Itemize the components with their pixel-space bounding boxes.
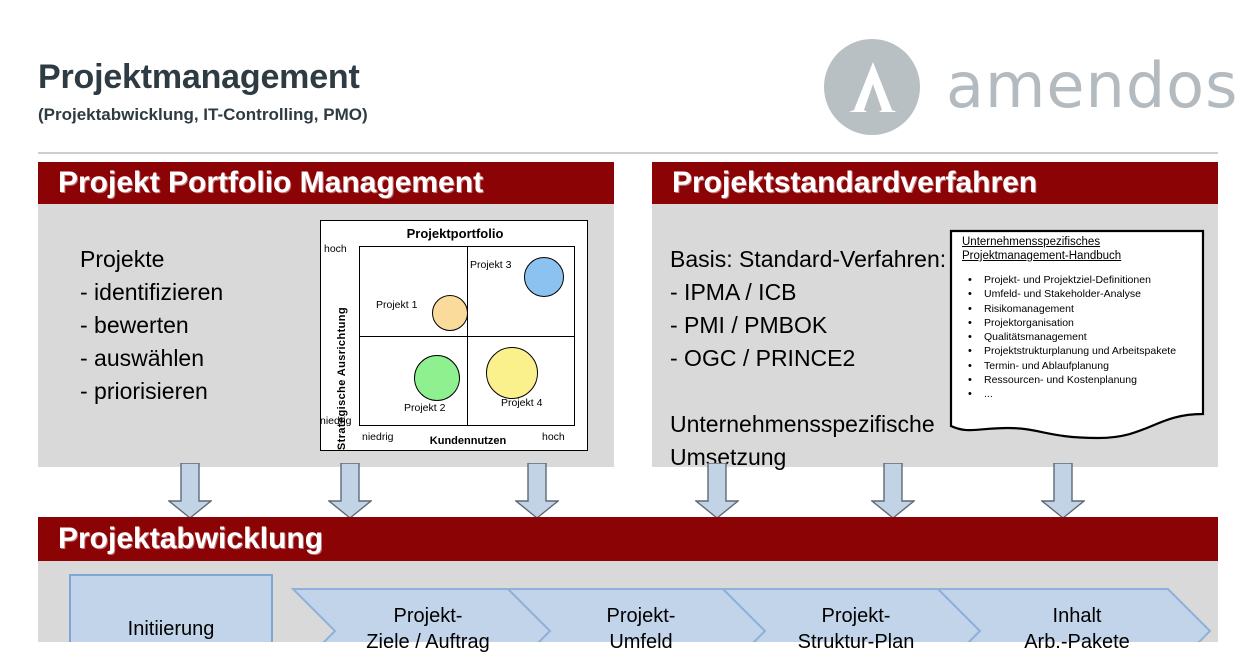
chart-point-projekt-4 [486, 347, 538, 399]
process-step-2: Projekt- Umfeld [556, 603, 726, 655]
section-header-ppm: Projekt Portfolio Management [38, 162, 614, 204]
process-step-3-line2: Struktur-Plan [798, 631, 915, 653]
handbook-item: Projektorganisation [962, 316, 1202, 330]
chart-x-axis-label: Kundennutzen [360, 435, 576, 447]
handbook-item: Projektstrukturplanung und Arbeitspakete [962, 344, 1202, 358]
process-flow: Initiierung Projekt- Ziele / Auftrag Pro… [38, 561, 1218, 642]
process-step-1-line1: Projekt- [394, 605, 463, 627]
projektportfolio-chart: Projektportfolio Projekt 1 Projekt 2 Pro… [320, 220, 588, 451]
flow-arrow-down [695, 463, 739, 519]
page-title: Projektmanagement [38, 58, 360, 97]
chart-point-label-projekt-2: Projekt 2 [404, 402, 445, 414]
chart-point-label-projekt-1: Projekt 1 [376, 299, 417, 311]
chart-point-projekt-1 [432, 295, 468, 331]
chart-ytick-high: hoch [324, 243, 347, 255]
handbook-item: Termin- und Ablaufplanung [962, 359, 1202, 373]
ppm-bullet-list: Projekte - identifizieren - bewerten - a… [80, 243, 223, 408]
handbook-item: Risikomanagement [962, 302, 1202, 316]
handbook-title: Unternehmensspezifisches Projektmanageme… [962, 235, 1121, 263]
pm-handbook-document: Unternehmensspezifisches Projektmanageme… [948, 228, 1206, 440]
chart-horizontal-divider [360, 336, 574, 337]
flow-arrow-down [328, 463, 372, 519]
process-step-2-line1: Projekt- [607, 605, 676, 627]
logo-wordmark: amendos [946, 55, 1238, 117]
amendos-logo: amendos [824, 39, 1224, 137]
process-step-4-line2: Arb.-Pakete [1024, 631, 1130, 653]
handbook-item-list: Projekt- und Projektziel-Definitionen Um… [962, 273, 1202, 402]
handbook-title-line2: Projektmanagement-Handbuch [962, 250, 1121, 262]
section-header-psv: Projektstandardverfahren [652, 162, 1218, 204]
process-step-3: Projekt- Struktur-Plan [768, 603, 944, 655]
chart-point-label-projekt-3: Projekt 3 [470, 259, 511, 271]
process-step-initiierung: Initiierung [70, 616, 272, 642]
process-step-4: Inhalt Arb.-Pakete [984, 603, 1170, 655]
process-step-1-line2: Ziele / Auftrag [366, 631, 489, 653]
process-step-4-line1: Inhalt [1053, 605, 1102, 627]
handbook-item: Umfeld- und Stakeholder-Analyse [962, 287, 1202, 301]
chart-point-projekt-2 [414, 355, 460, 401]
chart-title: Projektportfolio [321, 226, 589, 241]
process-step-1: Projekt- Ziele / Auftrag [338, 603, 518, 655]
handbook-item: Ressourcen- und Kostenplanung [962, 373, 1202, 387]
section-header-pab: Projektabwicklung [38, 517, 1218, 561]
slide: Projektmanagement (Projektabwicklung, IT… [0, 0, 1256, 642]
handbook-item: Projekt- und Projektziel-Definitionen [962, 273, 1202, 287]
handbook-item: ... [962, 387, 1202, 401]
page-subtitle: (Projektabwicklung, IT-Controlling, PMO) [38, 105, 368, 125]
chart-point-label-projekt-4: Projekt 4 [501, 397, 542, 409]
chart-plot-area: Projekt 1 Projekt 2 Projekt 3 Projekt 4 … [359, 246, 575, 426]
flow-arrow-down [515, 463, 559, 519]
flow-arrow-down [1041, 463, 1085, 519]
process-step-3-line1: Projekt- [822, 605, 891, 627]
handbook-title-line1: Unternehmensspezifisches [962, 236, 1100, 248]
chart-y-axis-label: Strategische Ausrichtung [336, 307, 348, 450]
flow-arrow-down [168, 463, 212, 519]
chart-point-projekt-3 [524, 257, 564, 297]
lambda-icon [848, 60, 898, 116]
handbook-item: Qualitätsmanagement [962, 330, 1202, 344]
process-step-2-line2: Umfeld [609, 631, 672, 653]
header-divider [38, 152, 1218, 154]
psv-bullet-list: Basis: Standard-Verfahren: - IPMA / ICB … [670, 243, 946, 474]
flow-arrow-down [871, 463, 915, 519]
